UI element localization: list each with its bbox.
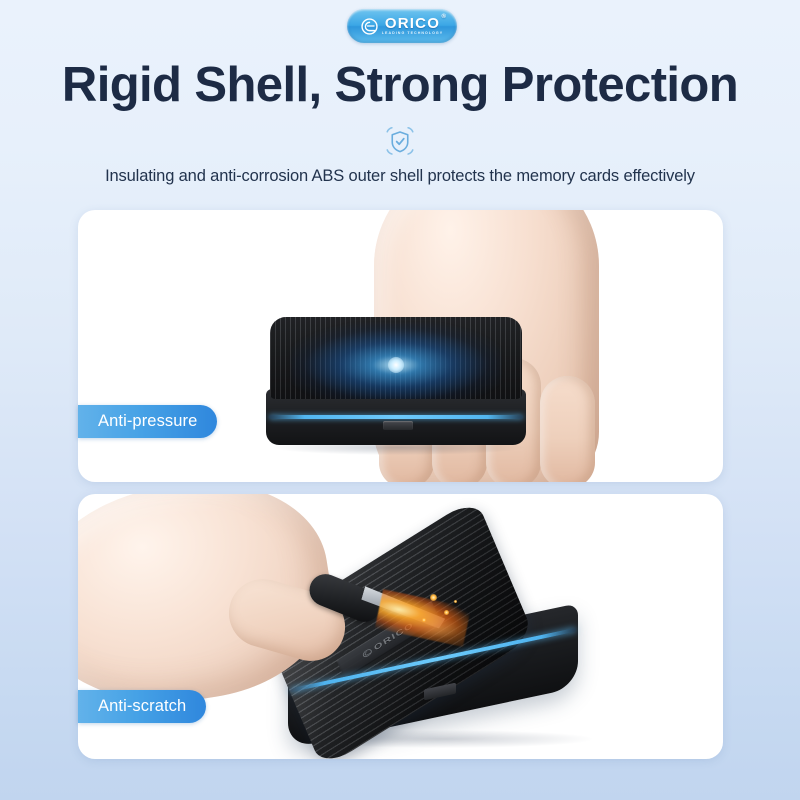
brand-text-block: ORICO® LEADING TECHNOLOGY xyxy=(382,16,443,36)
memory-card-case-closed xyxy=(266,317,526,445)
shield-check-icon xyxy=(379,124,421,158)
blue-accent-line xyxy=(269,415,523,419)
finger-knuckle xyxy=(540,376,595,482)
scene-hand-pressing-case xyxy=(78,210,723,482)
page-title: Rigid Shell, Strong Protection xyxy=(0,57,800,113)
impact-glow-core xyxy=(388,357,404,373)
badge-label: Anti-pressure xyxy=(98,412,197,431)
orico-swirl-icon xyxy=(361,647,373,659)
spark-particle xyxy=(454,600,457,603)
spark-particle xyxy=(422,618,426,622)
case-lid xyxy=(270,317,522,399)
brand-name: ORICO® xyxy=(385,16,440,31)
feature-panel-anti-pressure xyxy=(78,210,723,482)
product-feature-page: ORICO® LEADING TECHNOLOGY Rigid Shell, S… xyxy=(0,0,800,800)
page-subtitle: Insulating and anti-corrosion ABS outer … xyxy=(0,167,800,186)
badge-anti-pressure: Anti-pressure xyxy=(78,405,217,438)
orico-swirl-icon xyxy=(361,18,378,35)
case-latch xyxy=(383,421,413,430)
spark-particle xyxy=(430,594,437,601)
registered-mark: ® xyxy=(441,14,447,20)
badge-anti-scratch: Anti-scratch xyxy=(78,690,206,723)
spark-particle xyxy=(444,610,449,615)
brand-tagline: LEADING TECHNOLOGY xyxy=(382,32,443,36)
badge-label: Anti-scratch xyxy=(98,697,186,716)
brand-badge: ORICO® LEADING TECHNOLOGY xyxy=(347,9,457,43)
